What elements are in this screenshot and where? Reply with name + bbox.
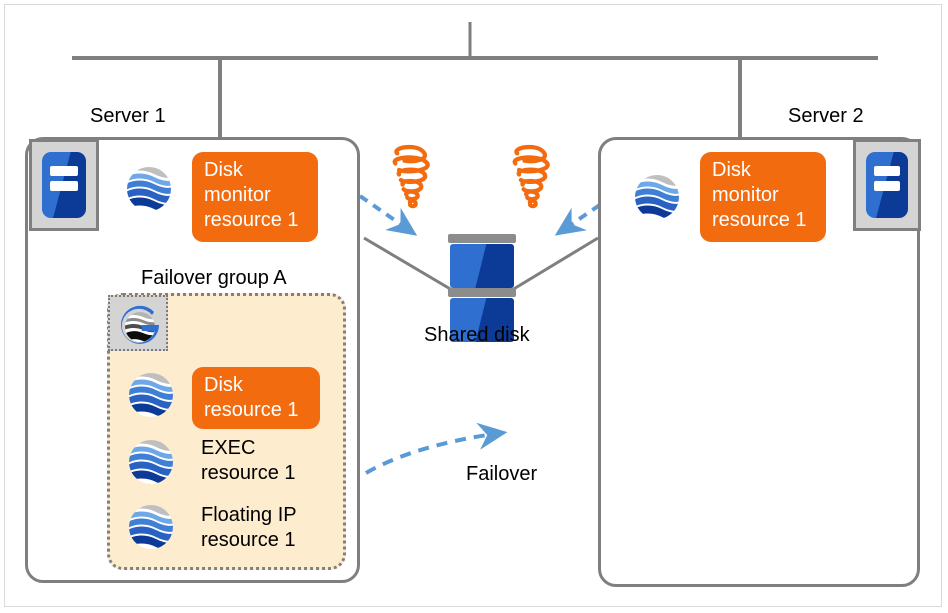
server-icon-card	[42, 152, 86, 218]
globe-icon	[634, 174, 680, 220]
globe-icon	[128, 439, 174, 485]
disk-monitor-resource-1-server2[interactable]: Disk monitor resource 1	[700, 152, 826, 242]
globe-icon	[128, 372, 174, 418]
network-bus	[72, 22, 878, 137]
exec-resource-1: EXEC resource 1	[201, 436, 296, 486]
resource-line-1: Disk	[204, 158, 306, 183]
server-icon-bar	[50, 166, 78, 176]
resource-line-1: Floating IP	[201, 503, 297, 528]
globe-icon	[126, 166, 172, 212]
server-icon-1	[29, 139, 99, 231]
disk-resource-1[interactable]: Disk resource 1	[192, 367, 320, 429]
disk-plate	[448, 288, 516, 297]
server-icon-2	[853, 139, 921, 231]
resource-line-2: resource 1	[204, 398, 308, 423]
resource-line-1: EXEC	[201, 436, 296, 461]
server-1-title: Server 1	[90, 104, 166, 128]
tornado-icon-right	[515, 147, 548, 206]
failover-group-title: Failover group A	[141, 266, 287, 290]
server-icon-bar	[50, 181, 78, 191]
resource-line-1: Disk	[712, 158, 814, 183]
diagram-canvas: Server 1 Disk monitor resource 1	[0, 0, 948, 613]
server-icon-card	[866, 152, 908, 218]
failure-arrow-left	[360, 196, 406, 228]
disk-monitor-resource-1-server1[interactable]: Disk monitor resource 1	[192, 152, 318, 242]
globe-icon	[128, 504, 174, 550]
tornado-icon-left	[395, 147, 428, 206]
server-2-title: Server 2	[788, 104, 864, 128]
server-icon-bar	[874, 181, 901, 191]
resource-line-1: Disk	[204, 373, 308, 398]
resource-line-3: resource 1	[712, 208, 814, 233]
group-globe-icon	[108, 295, 168, 351]
resource-line-2: monitor	[712, 183, 814, 208]
disk-body	[450, 244, 514, 288]
resource-line-2: resource 1	[201, 528, 297, 553]
floating-ip-resource-1: Floating IP resource 1	[201, 503, 297, 553]
server-icon-bar	[874, 166, 901, 176]
disk-plate	[448, 234, 516, 243]
resource-line-2: resource 1	[201, 461, 296, 486]
resource-line-3: resource 1	[204, 208, 306, 233]
shared-disk-label: Shared disk	[424, 323, 530, 347]
resource-line-2: monitor	[204, 183, 306, 208]
failover-label: Failover	[466, 462, 537, 486]
